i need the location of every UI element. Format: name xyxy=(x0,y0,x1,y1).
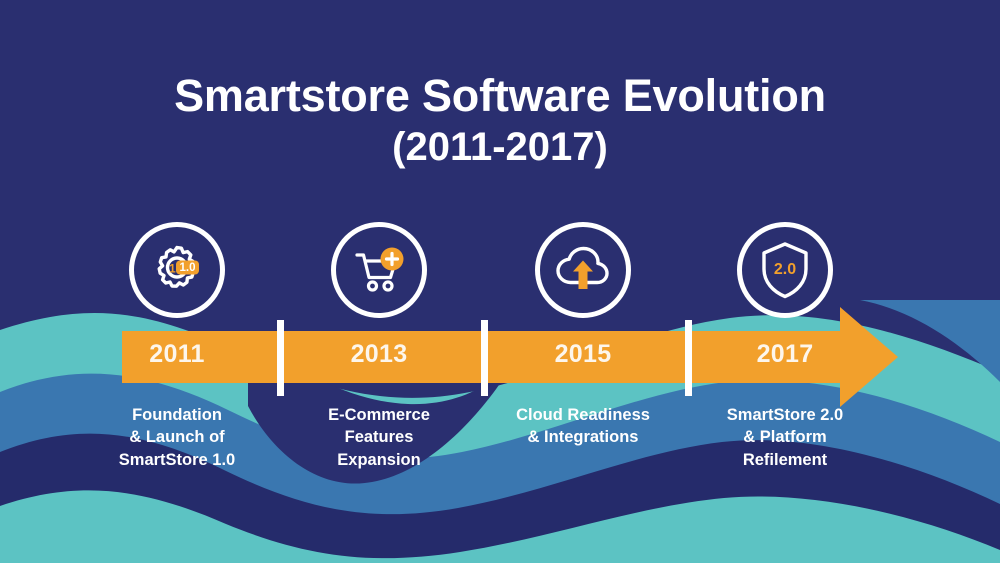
caption-line: Cloud Readiness xyxy=(483,404,683,426)
caption-line: E-Commerce xyxy=(279,404,479,426)
year-label: 2015 xyxy=(483,340,683,369)
svg-text:1.0: 1.0 xyxy=(180,262,196,274)
timeline-layer: 1. 1.0 2011 Foundation & Launch of Smart… xyxy=(0,0,1000,563)
milestone-2017[interactable]: 2.0 2017 SmartStore 2.0 & Platform Refil… xyxy=(685,0,885,563)
caption-line: & Platform xyxy=(685,426,885,448)
milestone-caption: Foundation & Launch of SmartStore 1.0 xyxy=(77,404,277,471)
year-label: 2011 xyxy=(77,340,277,369)
milestone-caption: Cloud Readiness & Integrations xyxy=(483,404,683,449)
year-label: 2013 xyxy=(279,340,479,369)
svg-text:2.0: 2.0 xyxy=(774,261,796,278)
caption-line: Expansion xyxy=(279,449,479,471)
infographic-slide: Smartstore Software Evolution (2011-2017… xyxy=(0,0,1000,563)
milestone-2015[interactable]: 2015 Cloud Readiness & Integrations xyxy=(483,0,683,563)
shopping-cart-icon xyxy=(331,222,427,318)
year-label: 2017 xyxy=(685,340,885,369)
caption-line: Foundation xyxy=(77,404,277,426)
caption-line: SmartStore 2.0 xyxy=(685,404,885,426)
cloud-upload-icon xyxy=(535,222,631,318)
caption-line: & Launch of xyxy=(77,426,277,448)
milestone-caption: SmartStore 2.0 & Platform Refilement xyxy=(685,404,885,471)
milestone-2013[interactable]: 2013 E-Commerce Features Expansion xyxy=(279,0,479,563)
milestone-caption: E-Commerce Features Expansion xyxy=(279,404,479,471)
upload-arrow xyxy=(573,261,593,290)
caption-line: Features xyxy=(279,426,479,448)
gear-icon: 1. 1.0 xyxy=(129,222,225,318)
milestone-2011[interactable]: 1. 1.0 2011 Foundation & Launch of Smart… xyxy=(77,0,277,563)
shield-icon: 2.0 xyxy=(737,222,833,318)
caption-line: & Integrations xyxy=(483,426,683,448)
caption-line: SmartStore 1.0 xyxy=(77,449,277,471)
caption-line: Refilement xyxy=(685,449,885,471)
